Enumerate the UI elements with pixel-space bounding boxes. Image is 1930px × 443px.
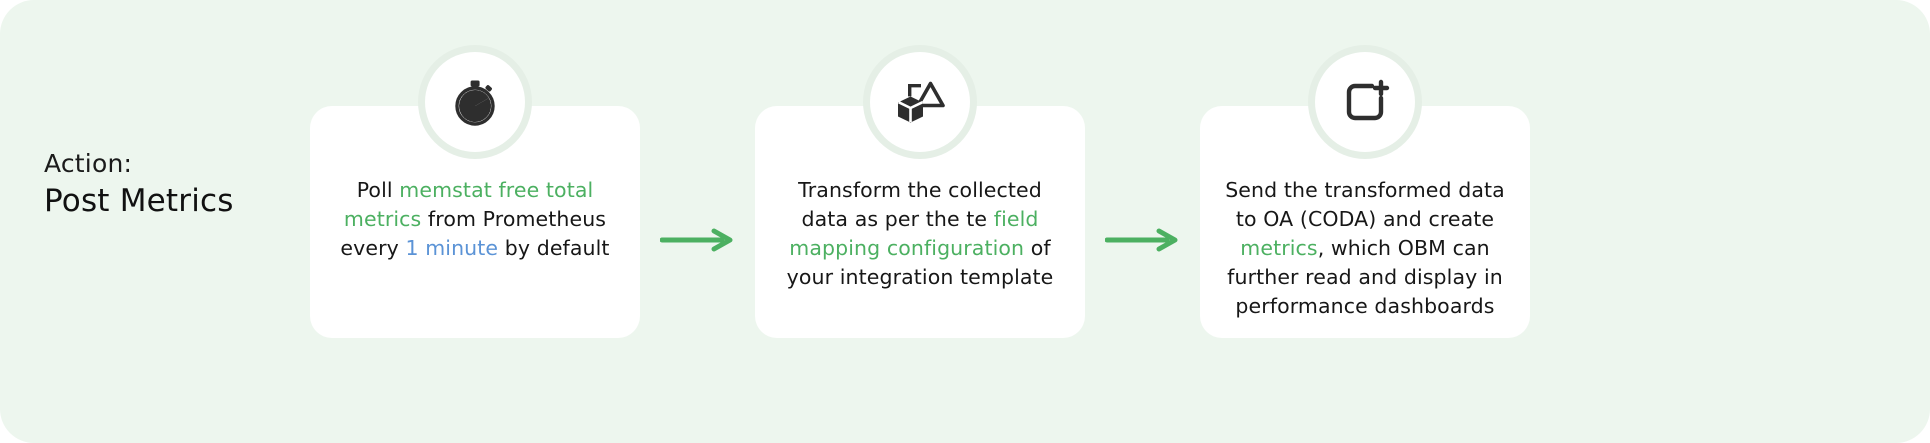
- text-run: to OA (CODA) and create: [1236, 207, 1494, 231]
- text-run: data as per the te: [802, 207, 994, 231]
- text-run-highlight: 1 minute: [405, 236, 498, 260]
- text-run: Poll: [357, 178, 400, 202]
- diagram-canvas: Action: Post Metrics Poll memstat free t…: [0, 0, 1930, 443]
- page-title: Post Metrics: [44, 181, 294, 221]
- text-run: of: [1024, 236, 1051, 260]
- step-card-3-text: Send the transformed data to OA (CODA) a…: [1218, 176, 1512, 320]
- text-run: from Prometheus: [421, 207, 606, 231]
- text-run-highlight: metrics: [1240, 236, 1317, 260]
- text-run: Transform the collected: [798, 178, 1042, 202]
- text-run: every: [340, 236, 405, 260]
- action-kicker: Action:: [44, 148, 294, 179]
- step-card-2-text: Transform the collected data as per the …: [773, 176, 1067, 320]
- text-run: your integration template: [787, 265, 1054, 289]
- text-run: , which OBM can: [1318, 236, 1490, 260]
- step-card-1-text: Poll memstat free total metrics from Pro…: [328, 176, 622, 320]
- flow-step-2: Transform the collected data as per the …: [755, 106, 1085, 338]
- text-run: further read and display in: [1227, 265, 1503, 289]
- flow-step-1: Poll memstat free total metrics from Pro…: [310, 106, 640, 338]
- text-run: by default: [498, 236, 609, 260]
- arrow-step1-step2: [640, 124, 755, 356]
- text-run: performance dashboards: [1235, 294, 1494, 318]
- arrow-step2-step3: [1085, 124, 1200, 356]
- text-run-highlight: metrics: [344, 207, 421, 231]
- add-square-icon: [1315, 52, 1415, 152]
- action-label-group: Action: Post Metrics: [44, 148, 294, 222]
- flow-row: Poll memstat free total metrics from Pro…: [310, 0, 1870, 443]
- stopwatch-icon: [425, 52, 525, 152]
- transform-shapes-icon: [870, 52, 970, 152]
- text-run-highlight: memstat free total: [399, 178, 593, 202]
- flow-step-3: Send the transformed data to OA (CODA) a…: [1200, 106, 1530, 338]
- text-run-highlight: field: [994, 207, 1039, 231]
- text-run: Send the transformed data: [1225, 178, 1505, 202]
- text-run-highlight: mapping configuration: [789, 236, 1024, 260]
